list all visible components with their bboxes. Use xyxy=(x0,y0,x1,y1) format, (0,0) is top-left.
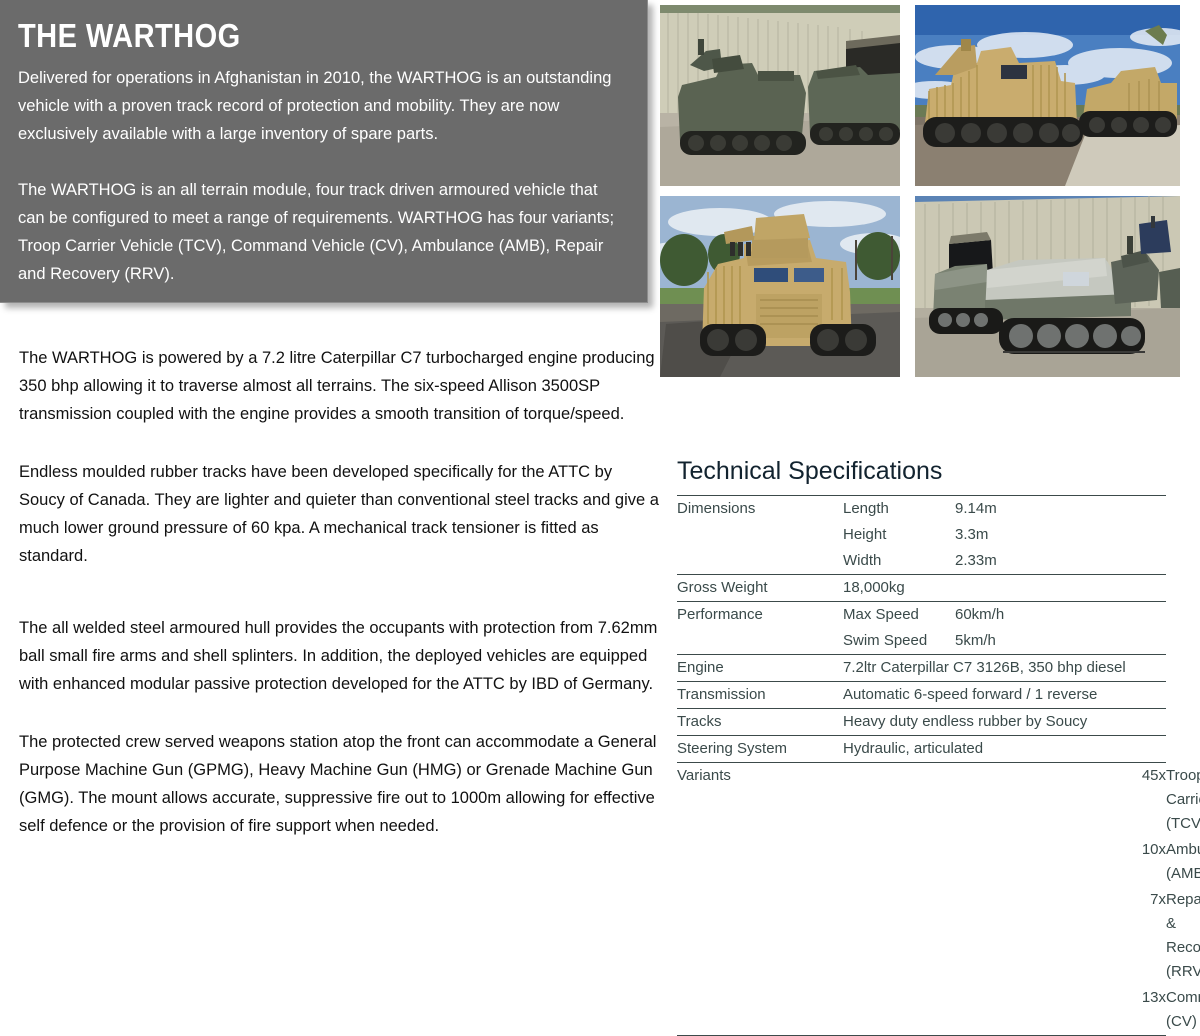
variant-spacer-2 xyxy=(843,837,955,887)
spec-label-tracks: Tracks xyxy=(677,709,843,736)
spec-label-dimensions: Dimensions xyxy=(677,496,843,523)
header-paragraph-2: The WARTHOG is an all terrain module, fo… xyxy=(18,176,623,288)
body-paragraph-3: The all welded steel armoured hull provi… xyxy=(19,614,659,698)
spec-value-swim-speed: 5km/h xyxy=(955,628,1166,655)
variant-spacer-1 xyxy=(843,763,955,838)
variant-qty-amb: 10x xyxy=(955,837,1166,887)
spec-value-gross-weight: 18,000kg xyxy=(843,575,1166,602)
body-paragraph-1: The WARTHOG is powered by a 7.2 litre Ca… xyxy=(19,344,659,428)
spec-label-empty-2 xyxy=(677,548,843,575)
table-row-performance-swim-speed: Swim Speed 5km/h xyxy=(677,628,1166,655)
photo-desert-tan-warthog-side-view xyxy=(915,5,1180,186)
body-paragraph-2: Endless moulded rubber tracks have been … xyxy=(19,458,659,570)
table-row-dimensions-height: Height 3.3m xyxy=(677,522,1166,548)
spec-sub-height: Height xyxy=(843,522,955,548)
spec-label-empty-4 xyxy=(677,837,843,887)
header-paragraph-1: Delivered for operations in Afghanistan … xyxy=(18,64,623,148)
spec-value-max-speed: 60km/h xyxy=(955,602,1166,629)
spec-label-engine: Engine xyxy=(677,655,843,682)
vehicle-photo-image xyxy=(915,5,1180,186)
photo-green-warthog-rear-quarter xyxy=(915,196,1180,377)
photo-desert-tan-warthog-front-view xyxy=(660,196,900,377)
table-row-engine: Engine 7.2ltr Caterpillar C7 3126B, 350 … xyxy=(677,655,1166,682)
table-row-variant-amb: 10x Ambulance (AMB) xyxy=(677,837,1166,887)
photo-green-warthog-pair-by-hangar xyxy=(660,5,900,186)
photo-gallery xyxy=(660,5,1180,377)
table-row-transmission: Transmission Automatic 6-speed forward /… xyxy=(677,682,1166,709)
spec-sub-swim-speed: Swim Speed xyxy=(843,628,955,655)
spec-label-empty-1 xyxy=(677,522,843,548)
variant-spacer-4 xyxy=(843,985,955,1036)
table-row-tracks: Tracks Heavy duty endless rubber by Souc… xyxy=(677,709,1166,736)
variant-qty-tcv: 45x xyxy=(955,763,1166,838)
spec-sub-max-speed: Max Speed xyxy=(843,602,955,629)
specs-table: Dimensions Length 9.14m Height 3.3m Widt… xyxy=(677,495,1166,1036)
spec-value-tracks: Heavy duty endless rubber by Soucy xyxy=(843,709,1166,736)
spec-label-gross-weight: Gross Weight xyxy=(677,575,843,602)
variant-qty-rrv: 7x xyxy=(955,887,1166,985)
spec-value-steering-system: Hydraulic, articulated xyxy=(843,736,1166,763)
spec-sub-width: Width xyxy=(843,548,955,575)
spec-label-empty-6 xyxy=(677,985,843,1036)
specs-title: Technical Specifications xyxy=(677,456,1166,486)
vehicle-photo-image xyxy=(660,5,900,186)
technical-specifications-panel: Technical Specifications Dimensions Leng… xyxy=(677,456,1166,1036)
page-title: THE WARTHOG xyxy=(18,18,550,54)
table-row-variant-cv: 13x Command (CV) xyxy=(677,985,1166,1036)
spec-value-engine: 7.2ltr Caterpillar C7 3126B, 350 bhp die… xyxy=(843,655,1166,682)
spec-value-width: 2.33m xyxy=(955,548,1166,575)
table-row-variant-tcv: Variants 45x Troop Carrier (TCV) xyxy=(677,763,1166,838)
header-callout-box: THE WARTHOG Delivered for operations in … xyxy=(0,0,648,303)
spec-label-performance: Performance xyxy=(677,602,843,629)
spec-value-length: 9.14m xyxy=(955,496,1166,523)
body-paragraph-4: The protected crew served weapons statio… xyxy=(19,728,659,840)
variant-qty-cv: 13x xyxy=(955,985,1166,1036)
spec-label-variants: Variants xyxy=(677,763,843,838)
table-row-gross-weight: Gross Weight 18,000kg xyxy=(677,575,1166,602)
table-row-dimensions-length: Dimensions Length 9.14m xyxy=(677,496,1166,523)
vehicle-photo-image xyxy=(915,196,1180,377)
spec-label-empty-3 xyxy=(677,628,843,655)
spec-label-steering-system: Steering System xyxy=(677,736,843,763)
variant-spacer-3 xyxy=(843,887,955,985)
spec-value-height: 3.3m xyxy=(955,522,1166,548)
spec-label-empty-5 xyxy=(677,887,843,985)
spec-sub-length: Length xyxy=(843,496,955,523)
spec-value-transmission: Automatic 6-speed forward / 1 reverse xyxy=(843,682,1166,709)
body-text-column: The WARTHOG is powered by a 7.2 litre Ca… xyxy=(19,344,659,840)
vehicle-photo-image xyxy=(660,196,900,377)
spec-label-transmission: Transmission xyxy=(677,682,843,709)
table-row-dimensions-width: Width 2.33m xyxy=(677,548,1166,575)
table-row-variant-rrv: 7x Repair & Recovery (RRV) xyxy=(677,887,1166,985)
table-row-performance-max-speed: Performance Max Speed 60km/h xyxy=(677,602,1166,629)
table-row-steering-system: Steering System Hydraulic, articulated xyxy=(677,736,1166,763)
